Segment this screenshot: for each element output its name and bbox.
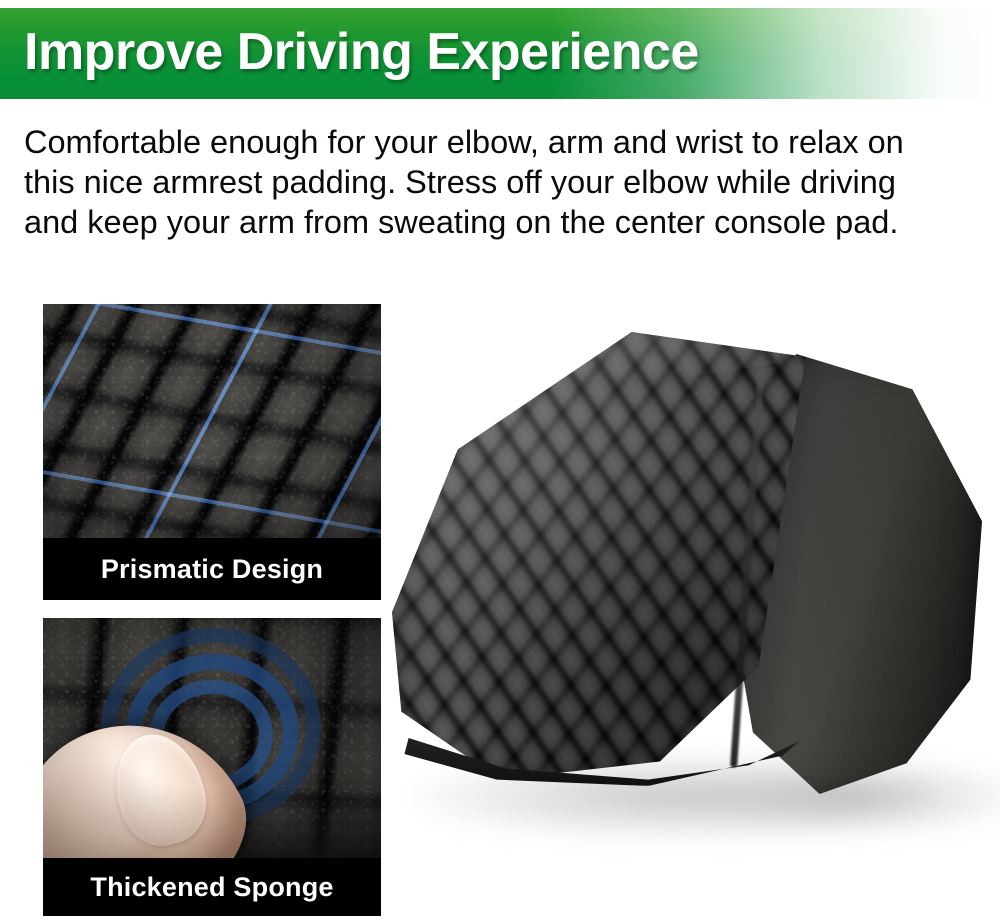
description-line-1: Comfortable enough for your elbow, arm a… — [24, 122, 974, 162]
description-block: Comfortable enough for your elbow, arm a… — [24, 122, 974, 242]
page-title: Improve Driving Experience — [24, 22, 699, 82]
feature-label-prismatic-design: Prismatic Design — [43, 538, 381, 600]
photo-vignette — [43, 618, 381, 858]
photo-vignette — [43, 304, 381, 538]
prismatic-design-photo — [43, 304, 381, 538]
description-line-2: this nice armrest padding. Stress off yo… — [24, 162, 974, 202]
feature-card-thickened-sponge: Thickened Sponge — [43, 618, 381, 916]
thickened-sponge-photo — [43, 618, 381, 858]
description-line-3: and keep your arm from sweating on the c… — [24, 202, 974, 242]
header-banner: Improve Driving Experience — [0, 8, 1000, 99]
hero-product-photo — [392, 330, 1000, 890]
feature-label-thickened-sponge: Thickened Sponge — [43, 858, 381, 916]
feature-card-prismatic-design: Prismatic Design — [43, 304, 381, 600]
